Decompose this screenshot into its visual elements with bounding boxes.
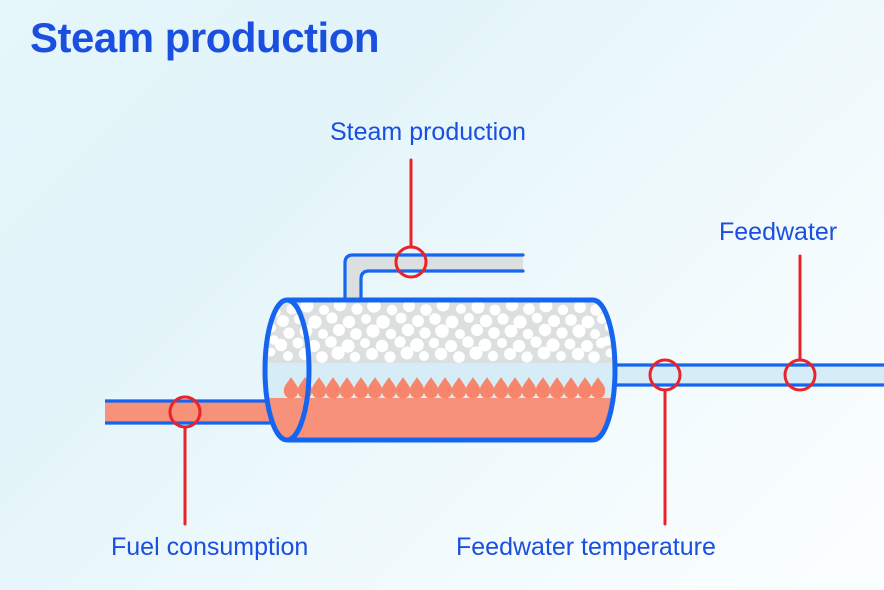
feedwater-inlet-pipe bbox=[600, 365, 884, 385]
steam-boiler-vessel bbox=[260, 296, 620, 444]
label-fuel-consumption: Fuel consumption bbox=[111, 533, 308, 562]
burner-flame-row bbox=[284, 377, 605, 398]
label-steam-production: Steam production bbox=[330, 118, 526, 147]
steam-boiler-diagram bbox=[0, 0, 884, 590]
label-feedwater-temperature: Feedwater temperature bbox=[456, 533, 716, 562]
fuel-inlet-pipe bbox=[105, 401, 285, 423]
hot-liquid-zone bbox=[260, 398, 620, 444]
diagram-canvas: Steam production bbox=[0, 0, 884, 590]
label-feedwater: Feedwater bbox=[719, 218, 837, 247]
